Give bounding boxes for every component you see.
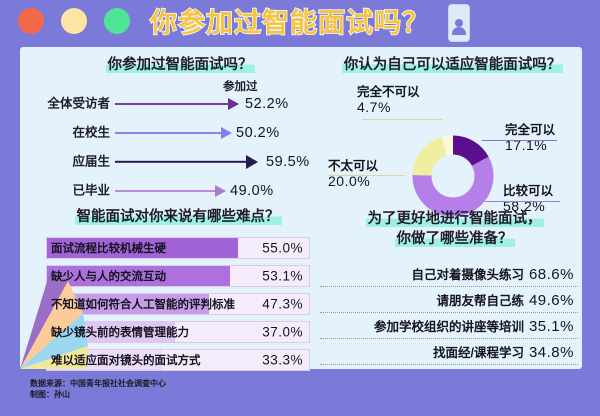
arrow-value-1: 50.2% [236,125,280,141]
bar-row-0: 面试流程比较机械生硬 55.0% [46,237,310,259]
prep-text-3: 找面经/课程学习34.8% [433,342,574,361]
prep-value-0: 68.6% [529,266,574,283]
bar-value-4: 33.3% [262,353,303,368]
content-panel: 你参加过智能面试吗？ 参加过 全体受访者 52.2% 在校生 50.2% 应届生… [20,47,582,369]
bar-value-3: 37.0% [262,325,303,340]
prep-value-3: 34.8% [529,344,574,361]
arrow-shaft-0 [115,103,228,105]
prep-label-3: 找面经/课程学习 [433,346,524,360]
bar-row-3: 缺少镜头前的表情管理能力 37.0% [46,321,310,343]
arrow-row-0: 全体受访者 52.2% [115,91,237,117]
bar-value-2: 47.3% [262,297,303,312]
phone-person-icon [448,4,470,42]
person-head-shape [455,19,463,27]
bar-row-1: 缺少人与人的交流互动 53.1% [46,265,310,287]
yellow-dot [61,8,87,34]
arrow-shaft-1 [115,132,221,134]
prep-row-0: 自己对着摄像头练习68.6% [320,262,578,287]
arrow-shaft-2 [115,161,246,163]
arrow-value-0: 52.2% [245,96,289,112]
bar-row-2: 不知道如何符合人工智能的评判标准 47.3% [46,293,310,315]
bar-label-4: 难以适应面对镜头的面试方式 [51,352,201,368]
bar-label-2: 不知道如何符合人工智能的评判标准 [51,296,235,312]
donut-leader-0 [482,140,557,141]
bar-label-3: 缺少镜头前的表情管理能力 [51,324,189,340]
prep-text-2: 参加学校组织的讲座等培训35.1% [374,316,574,335]
arrow-row-1: 在校生 50.2% [115,120,237,146]
footer-credits: 数据来源：中国青年报社社会调查中心 制图：孙山 [30,378,166,400]
bar-value-0: 55.0% [262,241,303,256]
donut-leader-1 [485,201,560,202]
prep-label-2: 参加学校组织的讲座等培训 [374,320,524,334]
arrow-head-2 [246,155,258,169]
donut-leader-2 [328,175,405,176]
donut-leader-3 [362,119,442,120]
donut-label-1-name: 比较可以 [503,184,553,199]
green-dot [104,8,130,34]
prep-text-0: 自己对着摄像头练习68.6% [411,264,574,283]
donut-label-0: 完全可以 17.1% [505,123,555,153]
arrow-label-1: 在校生 [40,127,110,140]
section-title-difficulties: 智能面试对你来说有哪些难点？ [46,208,310,226]
bar-row-4: 难以适应面对镜头的面试方式 33.3% [46,349,310,371]
prep-value-1: 49.6% [529,292,574,309]
arrow-label-0: 全体受访者 [40,98,110,111]
donut-label-3-name: 完全不可以 [357,85,420,100]
section-title-preparation-line2: 你做了哪些准备？ [332,230,577,248]
prep-divider-2 [320,338,578,339]
arrow-label-2: 应届生 [40,156,110,169]
donut-label-3-value: 4.7% [357,100,420,115]
prep-divider-3 [320,364,578,365]
donut-chart-adaptability [407,130,499,222]
arrow-head-3 [215,185,226,197]
prep-row-3: 找面经/课程学习34.8% [320,340,578,365]
arrow-value-3: 49.0% [230,183,274,199]
prep-row-2: 参加学校组织的讲座等培训35.1% [320,314,578,339]
section-title-adaptability: 你认为自己可以适应智能面试吗？ [330,56,575,74]
arrow-shaft-3 [115,190,215,192]
bar-label-0: 面试流程比较机械生硬 [51,240,166,256]
bar-value-1: 53.1% [262,269,303,284]
arrow-row-3: 已毕业 49.0% [115,178,237,204]
red-dot [18,8,44,34]
infographic-root: 你参加过智能面试吗？ 你参加过智能面试吗？ 参加过 全体受访者 52.2% 在校… [0,0,600,416]
arrow-row-2: 应届生 59.5% [115,149,237,175]
donut-label-2: 不太可以 20.0% [328,159,378,189]
arrow-label-3: 已毕业 [40,185,110,198]
donut-label-3: 完全不可以 4.7% [357,85,420,115]
prep-text-1: 请朋友帮自己练49.6% [436,290,574,309]
prep-value-2: 35.1% [529,318,574,335]
section-title-participation: 你参加过智能面试吗？ [65,56,295,74]
donut-label-2-name: 不太可以 [328,159,378,174]
section-title-preparation-line1: 为了更好地进行智能面试， [332,210,577,228]
prep-label-1: 请朋友帮自己练 [436,294,524,308]
donut-svg [407,130,499,222]
page-title: 你参加过智能面试吗？ [145,4,435,42]
arrow-value-2: 59.5% [266,154,310,170]
prep-divider-0 [320,286,578,287]
prep-label-0: 自己对着摄像头练习 [411,268,524,282]
header-bar: 你参加过智能面试吗？ [0,0,600,47]
arrow-head-0 [228,98,239,110]
arrow-head-1 [221,127,232,139]
prep-divider-1 [320,312,578,313]
prep-row-1: 请朋友帮自己练49.6% [320,288,578,313]
footer-source: 数据来源：中国青年报社社会调查中心 [30,378,166,389]
bar-label-1: 缺少人与人的交流互动 [51,268,166,284]
person-body-shape [452,27,466,35]
footer-credit: 制图：孙山 [30,389,166,400]
donut-label-0-name: 完全可以 [505,123,555,138]
